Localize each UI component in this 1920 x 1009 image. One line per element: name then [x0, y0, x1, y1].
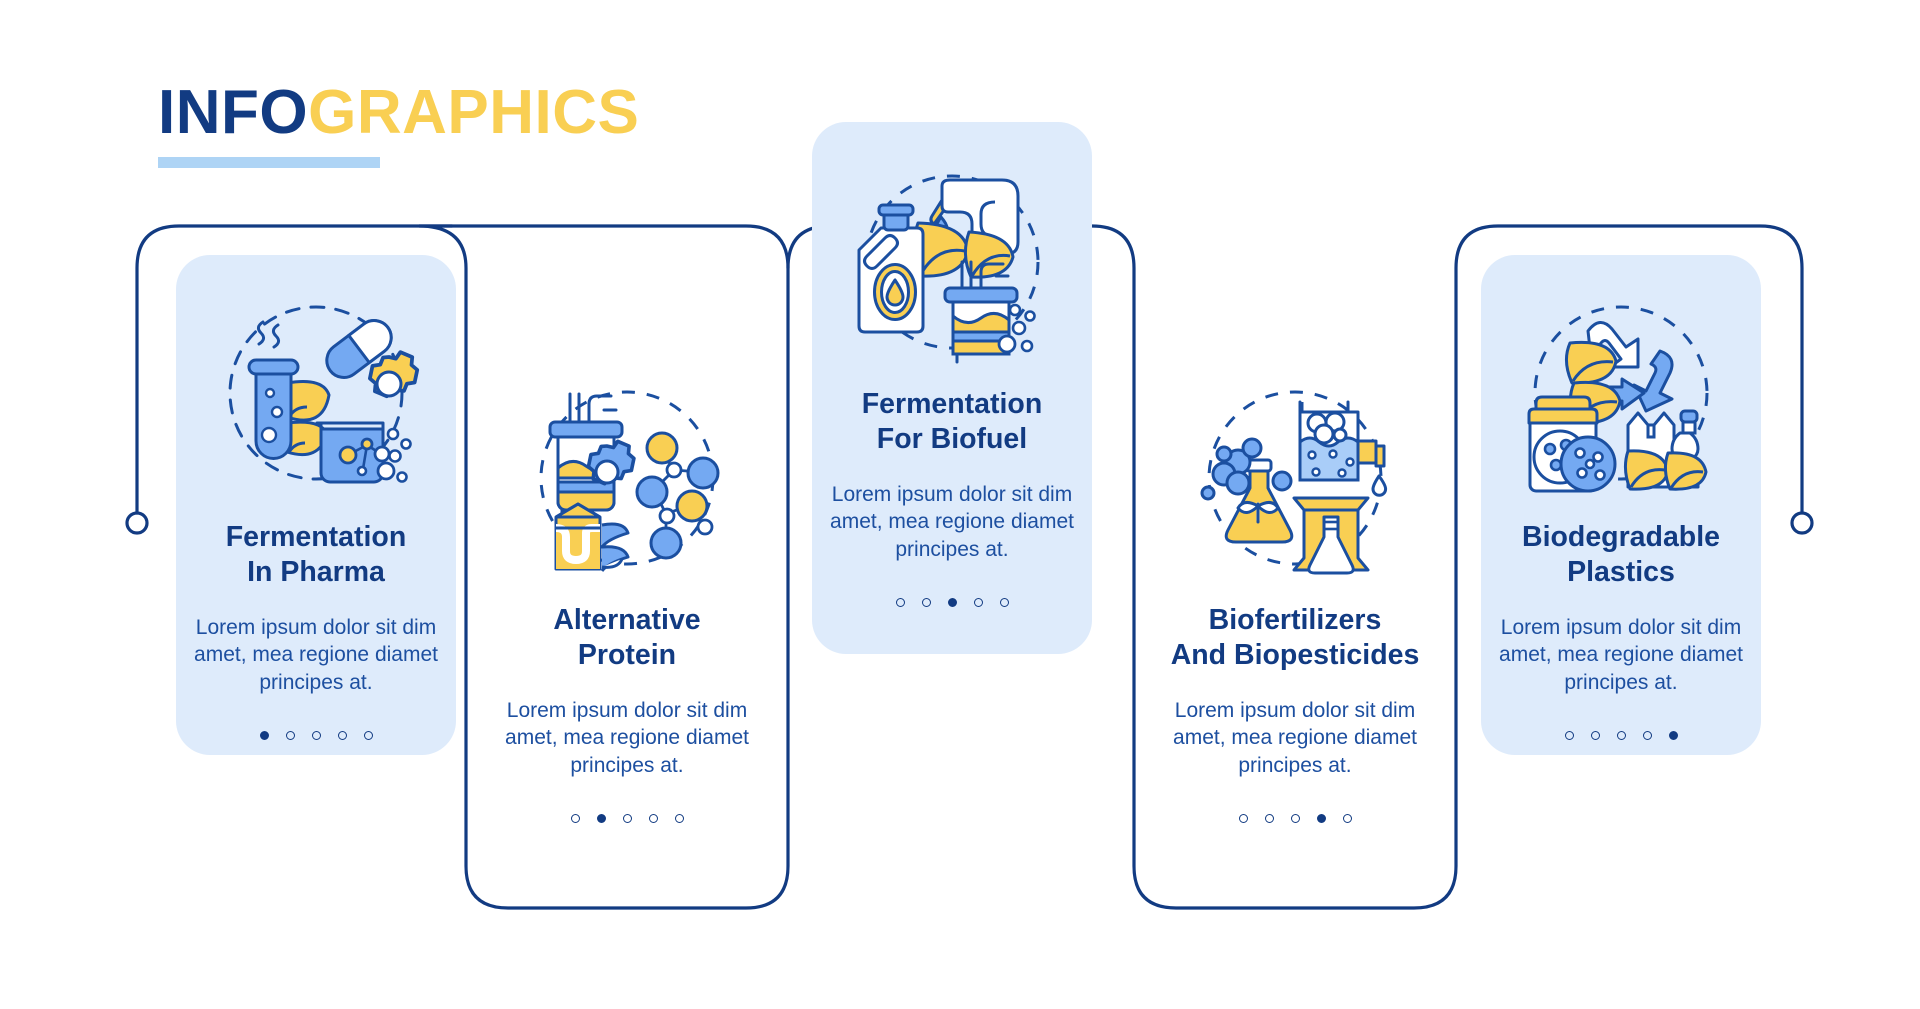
dot-1[interactable]	[1239, 814, 1248, 823]
step-card-5-body: Lorem ipsum dolor sit dim amet, mea regi…	[1484, 614, 1758, 697]
dot-1[interactable]	[571, 814, 580, 823]
biofuel-fermentation-icon	[847, 164, 1057, 369]
step-card-2-title-line1: Alternative	[553, 604, 700, 636]
step-card-1-title: Fermentation In Pharma	[216, 520, 417, 590]
step-card-2-title-line2: Protein	[578, 639, 676, 671]
page-title-part-two: GRAPHICS	[308, 78, 639, 147]
biofertilizer-biopesticide-icon	[1190, 380, 1400, 585]
dot-4[interactable]	[974, 598, 983, 607]
step-card-2-dots[interactable]	[571, 814, 684, 823]
step-card-4-dots[interactable]	[1239, 814, 1352, 823]
dot-5[interactable]	[1343, 814, 1352, 823]
dot-4[interactable]	[1643, 731, 1652, 740]
page-title: INFOGRAPHICS	[158, 82, 758, 144]
step-card-5-title-line1: Biodegradable	[1522, 521, 1720, 553]
step-card-3-title-line2: For Biofuel	[877, 423, 1027, 455]
dot-2[interactable]	[1265, 814, 1274, 823]
step-card-4-title: Biofertilizers And Biopesticides	[1161, 603, 1430, 673]
step-card-3[interactable]: Fermentation For Biofuel Lorem ipsum dol…	[812, 122, 1092, 654]
step-card-3-title-line1: Fermentation	[862, 388, 1043, 420]
step-card-2-title: Alternative Protein	[543, 603, 710, 673]
dot-3[interactable]	[948, 598, 957, 607]
step-card-1-dots[interactable]	[260, 731, 373, 740]
step-card-3-title: Fermentation For Biofuel	[852, 387, 1053, 457]
dot-1[interactable]	[896, 598, 905, 607]
step-card-5-dots[interactable]	[1565, 731, 1678, 740]
step-card-2-body: Lorem ipsum dolor sit dim amet, mea regi…	[490, 697, 764, 780]
dot-2[interactable]	[1591, 731, 1600, 740]
connector-start-node	[127, 513, 147, 533]
dot-4[interactable]	[649, 814, 658, 823]
step-card-4[interactable]: Biofertilizers And Biopesticides Lorem i…	[1134, 226, 1456, 908]
step-card-5-title: Biodegradable Plastics	[1512, 520, 1730, 590]
step-card-4-body: Lorem ipsum dolor sit dim amet, mea regi…	[1158, 697, 1432, 780]
step-card-1-title-line2: In Pharma	[247, 556, 385, 588]
dot-3[interactable]	[1291, 814, 1300, 823]
dot-3[interactable]	[1617, 731, 1626, 740]
page-title-part-one: INFO	[158, 78, 308, 147]
biodegradable-plastics-icon	[1516, 297, 1726, 502]
step-card-3-dots[interactable]	[896, 598, 1009, 607]
step-card-5-title-line2: Plastics	[1567, 556, 1675, 588]
dot-2[interactable]	[286, 731, 295, 740]
dot-1[interactable]	[260, 731, 269, 740]
alternative-protein-icon	[522, 380, 732, 585]
step-card-1-body: Lorem ipsum dolor sit dim amet, mea regi…	[182, 614, 451, 697]
dot-4[interactable]	[1317, 814, 1326, 823]
dot-5[interactable]	[1000, 598, 1009, 607]
dot-3[interactable]	[312, 731, 321, 740]
step-card-3-body: Lorem ipsum dolor sit dim amet, mea regi…	[815, 481, 1089, 564]
dot-4[interactable]	[338, 731, 347, 740]
connector-end-node	[1792, 513, 1812, 533]
step-card-2[interactable]: Alternative Protein Lorem ipsum dolor si…	[466, 226, 788, 908]
dot-1[interactable]	[1565, 731, 1574, 740]
step-card-5[interactable]: Biodegradable Plastics Lorem ipsum dolor…	[1481, 255, 1761, 755]
dot-5[interactable]	[364, 731, 373, 740]
dot-3[interactable]	[623, 814, 632, 823]
dot-5[interactable]	[1669, 731, 1678, 740]
pharma-fermentation-icon	[211, 297, 421, 502]
step-card-4-title-line1: Biofertilizers	[1209, 604, 1382, 636]
dot-2[interactable]	[597, 814, 606, 823]
dot-5[interactable]	[675, 814, 684, 823]
dot-2[interactable]	[922, 598, 931, 607]
page-title-block: INFOGRAPHICS	[158, 82, 758, 168]
step-card-1-title-line1: Fermentation	[226, 521, 407, 553]
step-card-1[interactable]: Fermentation In Pharma Lorem ipsum dolor…	[176, 255, 456, 755]
title-underline	[158, 157, 380, 168]
step-card-4-title-line2: And Biopesticides	[1171, 639, 1420, 671]
